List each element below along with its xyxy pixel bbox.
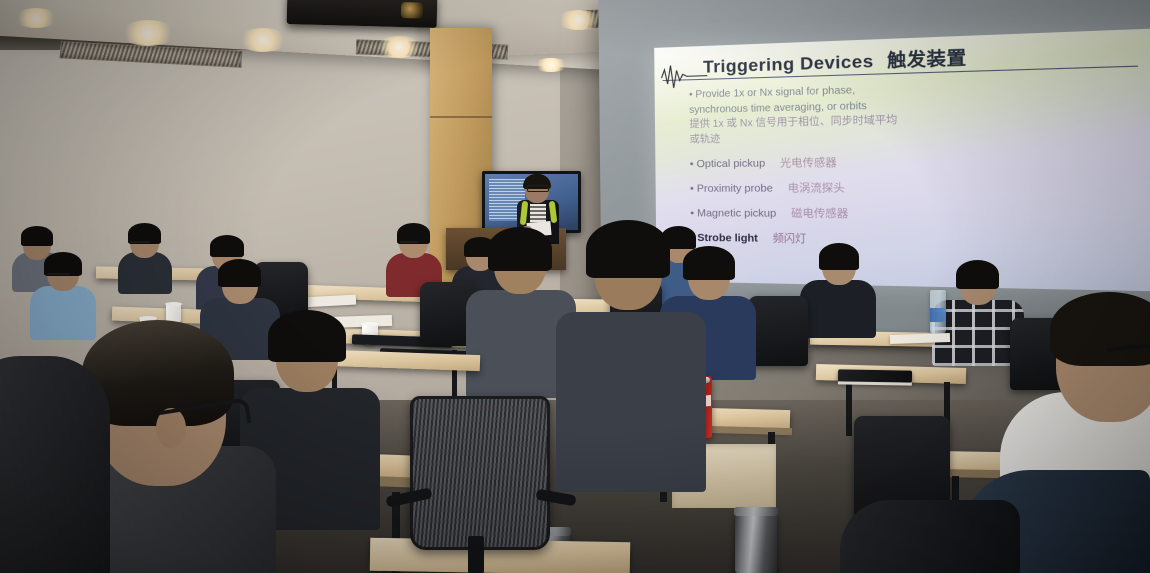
student-foreground-far-left <box>0 356 110 573</box>
bottle-label <box>930 308 946 321</box>
bullet-label-cn: 光电传感器 <box>780 156 837 169</box>
slide-bullet-magnetic-pickup: • Magnetic pickup磁电传感器 <box>690 205 1150 223</box>
recessed-downlight <box>238 28 288 52</box>
student-foreground-bottom-right <box>840 500 1020 573</box>
student-hair <box>268 310 346 362</box>
bullet-label-cn: 磁电传感器 <box>791 207 848 220</box>
water-bottle <box>930 290 946 334</box>
bullet-label-cn: 电涡流探头 <box>788 182 845 195</box>
bullet-label-en: • Proximity probe <box>690 182 773 195</box>
student-hair <box>488 227 552 271</box>
student <box>118 224 172 290</box>
student-glasses <box>130 241 150 243</box>
classroom-photo-scene: Triggering Devices触发装置 • Provide 1x or N… <box>0 0 1150 573</box>
student-hair <box>21 226 53 246</box>
student-hair <box>210 235 244 257</box>
student-glasses <box>47 273 70 275</box>
waveform-icon <box>660 62 707 90</box>
projector-lens <box>401 2 423 19</box>
student-torso <box>118 252 172 294</box>
recessed-downlight <box>14 8 58 28</box>
recessed-downlight <box>120 20 176 46</box>
student-hair <box>819 243 859 270</box>
recessed-downlight <box>534 58 568 72</box>
thermos-flask <box>735 514 777 573</box>
bullet-label-cn: 频闪灯 <box>773 232 807 245</box>
student-hair <box>218 259 261 287</box>
slide-bullet-strobe-light: • Strobe light频闪灯 <box>690 230 1150 250</box>
ceiling-projector <box>287 0 438 28</box>
bullet-label-en: • Optical pickup <box>690 157 766 170</box>
student-torso <box>800 280 876 338</box>
student-glasses <box>400 241 419 243</box>
chair-post <box>468 536 484 573</box>
slide-title-en: Triggering Devices <box>703 51 874 77</box>
student-torso <box>556 312 706 492</box>
student <box>556 226 706 486</box>
slide-bullet-optical-pickup: • Optical pickup光电传感器 <box>690 151 1150 172</box>
notebook <box>838 369 912 382</box>
student <box>30 254 96 338</box>
student-hair <box>956 260 999 289</box>
instructor-glasses <box>527 185 549 192</box>
student-hair <box>586 220 670 278</box>
mesh-office-chair <box>410 396 550 550</box>
thermos-lid <box>734 507 778 516</box>
slide-title-cn: 触发装置 <box>887 48 967 71</box>
slide-body: • Provide 1x or Nx signal for phase, syn… <box>689 77 1150 251</box>
slide-bullet-proximity-probe: • Proximity probe电涡流探头 <box>690 178 1150 196</box>
recessed-downlight <box>376 36 422 58</box>
bullet-label-en: • Magnetic pickup <box>690 207 776 220</box>
student <box>800 246 876 336</box>
office-chair <box>748 296 808 366</box>
desk-leg <box>846 380 852 436</box>
recessed-downlight <box>556 10 602 30</box>
